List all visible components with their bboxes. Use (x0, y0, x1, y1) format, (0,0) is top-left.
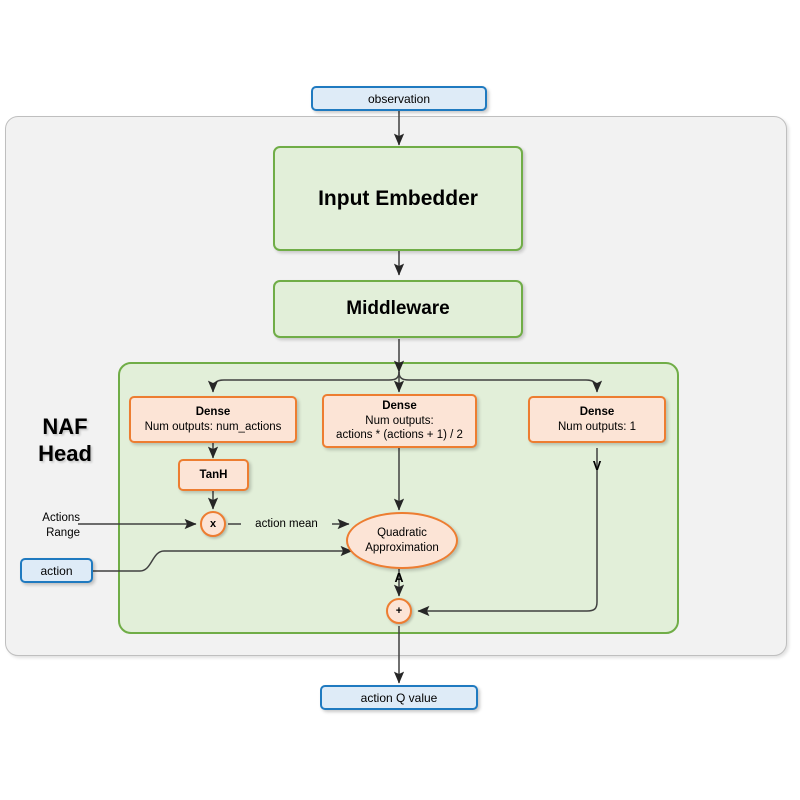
observation-input-box[interactable]: observation (311, 86, 487, 111)
actions-range-label: Actions Range (18, 507, 80, 541)
value-signal-label: V (582, 458, 612, 474)
dense-center-subtitle-line1: Num outputs: (365, 414, 433, 428)
advantage-text: A (394, 571, 403, 585)
value-text: V (593, 459, 601, 473)
action-q-value-output-box[interactable]: action Q value (320, 685, 478, 710)
dense-right-subtitle: Num outputs: 1 (558, 420, 636, 434)
action-input-box[interactable]: action (20, 558, 93, 583)
action-mean-text: action mean (255, 518, 318, 530)
dense-left-title: Dense (196, 405, 231, 419)
input-embedder-box[interactable]: Input Embedder (273, 146, 523, 251)
add-symbol: + (396, 605, 402, 617)
dense-right-title: Dense (580, 405, 615, 419)
quadratic-line2: Approximation (365, 541, 439, 556)
action-mean-edge-label: action mean (241, 515, 332, 533)
dense-center-box[interactable]: Dense Num outputs: actions * (actions + … (322, 394, 477, 448)
multiply-symbol: x (210, 518, 216, 530)
diagram-canvas: observation Input Embedder Middleware NA… (0, 0, 800, 800)
tanh-label: TanH (200, 468, 228, 482)
action-label: action (40, 564, 72, 578)
tanh-box[interactable]: TanH (178, 459, 249, 491)
dense-left-subtitle: Num outputs: num_actions (145, 420, 282, 434)
naf-head-title-line2: Head (38, 441, 92, 468)
edge-branch-to-dense-right (399, 372, 597, 392)
middleware-label: Middleware (346, 298, 449, 320)
dense-right-box[interactable]: Dense Num outputs: 1 (528, 396, 666, 443)
quadratic-approximation-node[interactable]: Quadratic Approximation (346, 512, 458, 569)
edge-action-to-quadratic (93, 551, 352, 571)
edge-branch-to-dense-left (213, 372, 399, 392)
quadratic-line1: Quadratic (377, 526, 427, 541)
observation-label: observation (368, 92, 430, 106)
naf-head-title-line1: NAF (42, 414, 87, 441)
dense-left-box[interactable]: Dense Num outputs: num_actions (129, 396, 297, 443)
add-operator-node[interactable]: + (386, 598, 412, 624)
actions-range-line2: Range (46, 526, 80, 541)
middleware-box[interactable]: Middleware (273, 280, 523, 338)
advantage-signal-label: A (384, 570, 414, 586)
naf-head-title: NAF Head (18, 410, 112, 472)
dense-center-title: Dense (382, 399, 417, 413)
multiply-operator-node[interactable]: x (200, 511, 226, 537)
action-q-value-label: action Q value (361, 691, 438, 705)
input-embedder-label: Input Embedder (318, 187, 478, 211)
actions-range-line1: Actions (42, 511, 80, 526)
dense-center-subtitle-line2: actions * (actions + 1) / 2 (336, 428, 463, 442)
